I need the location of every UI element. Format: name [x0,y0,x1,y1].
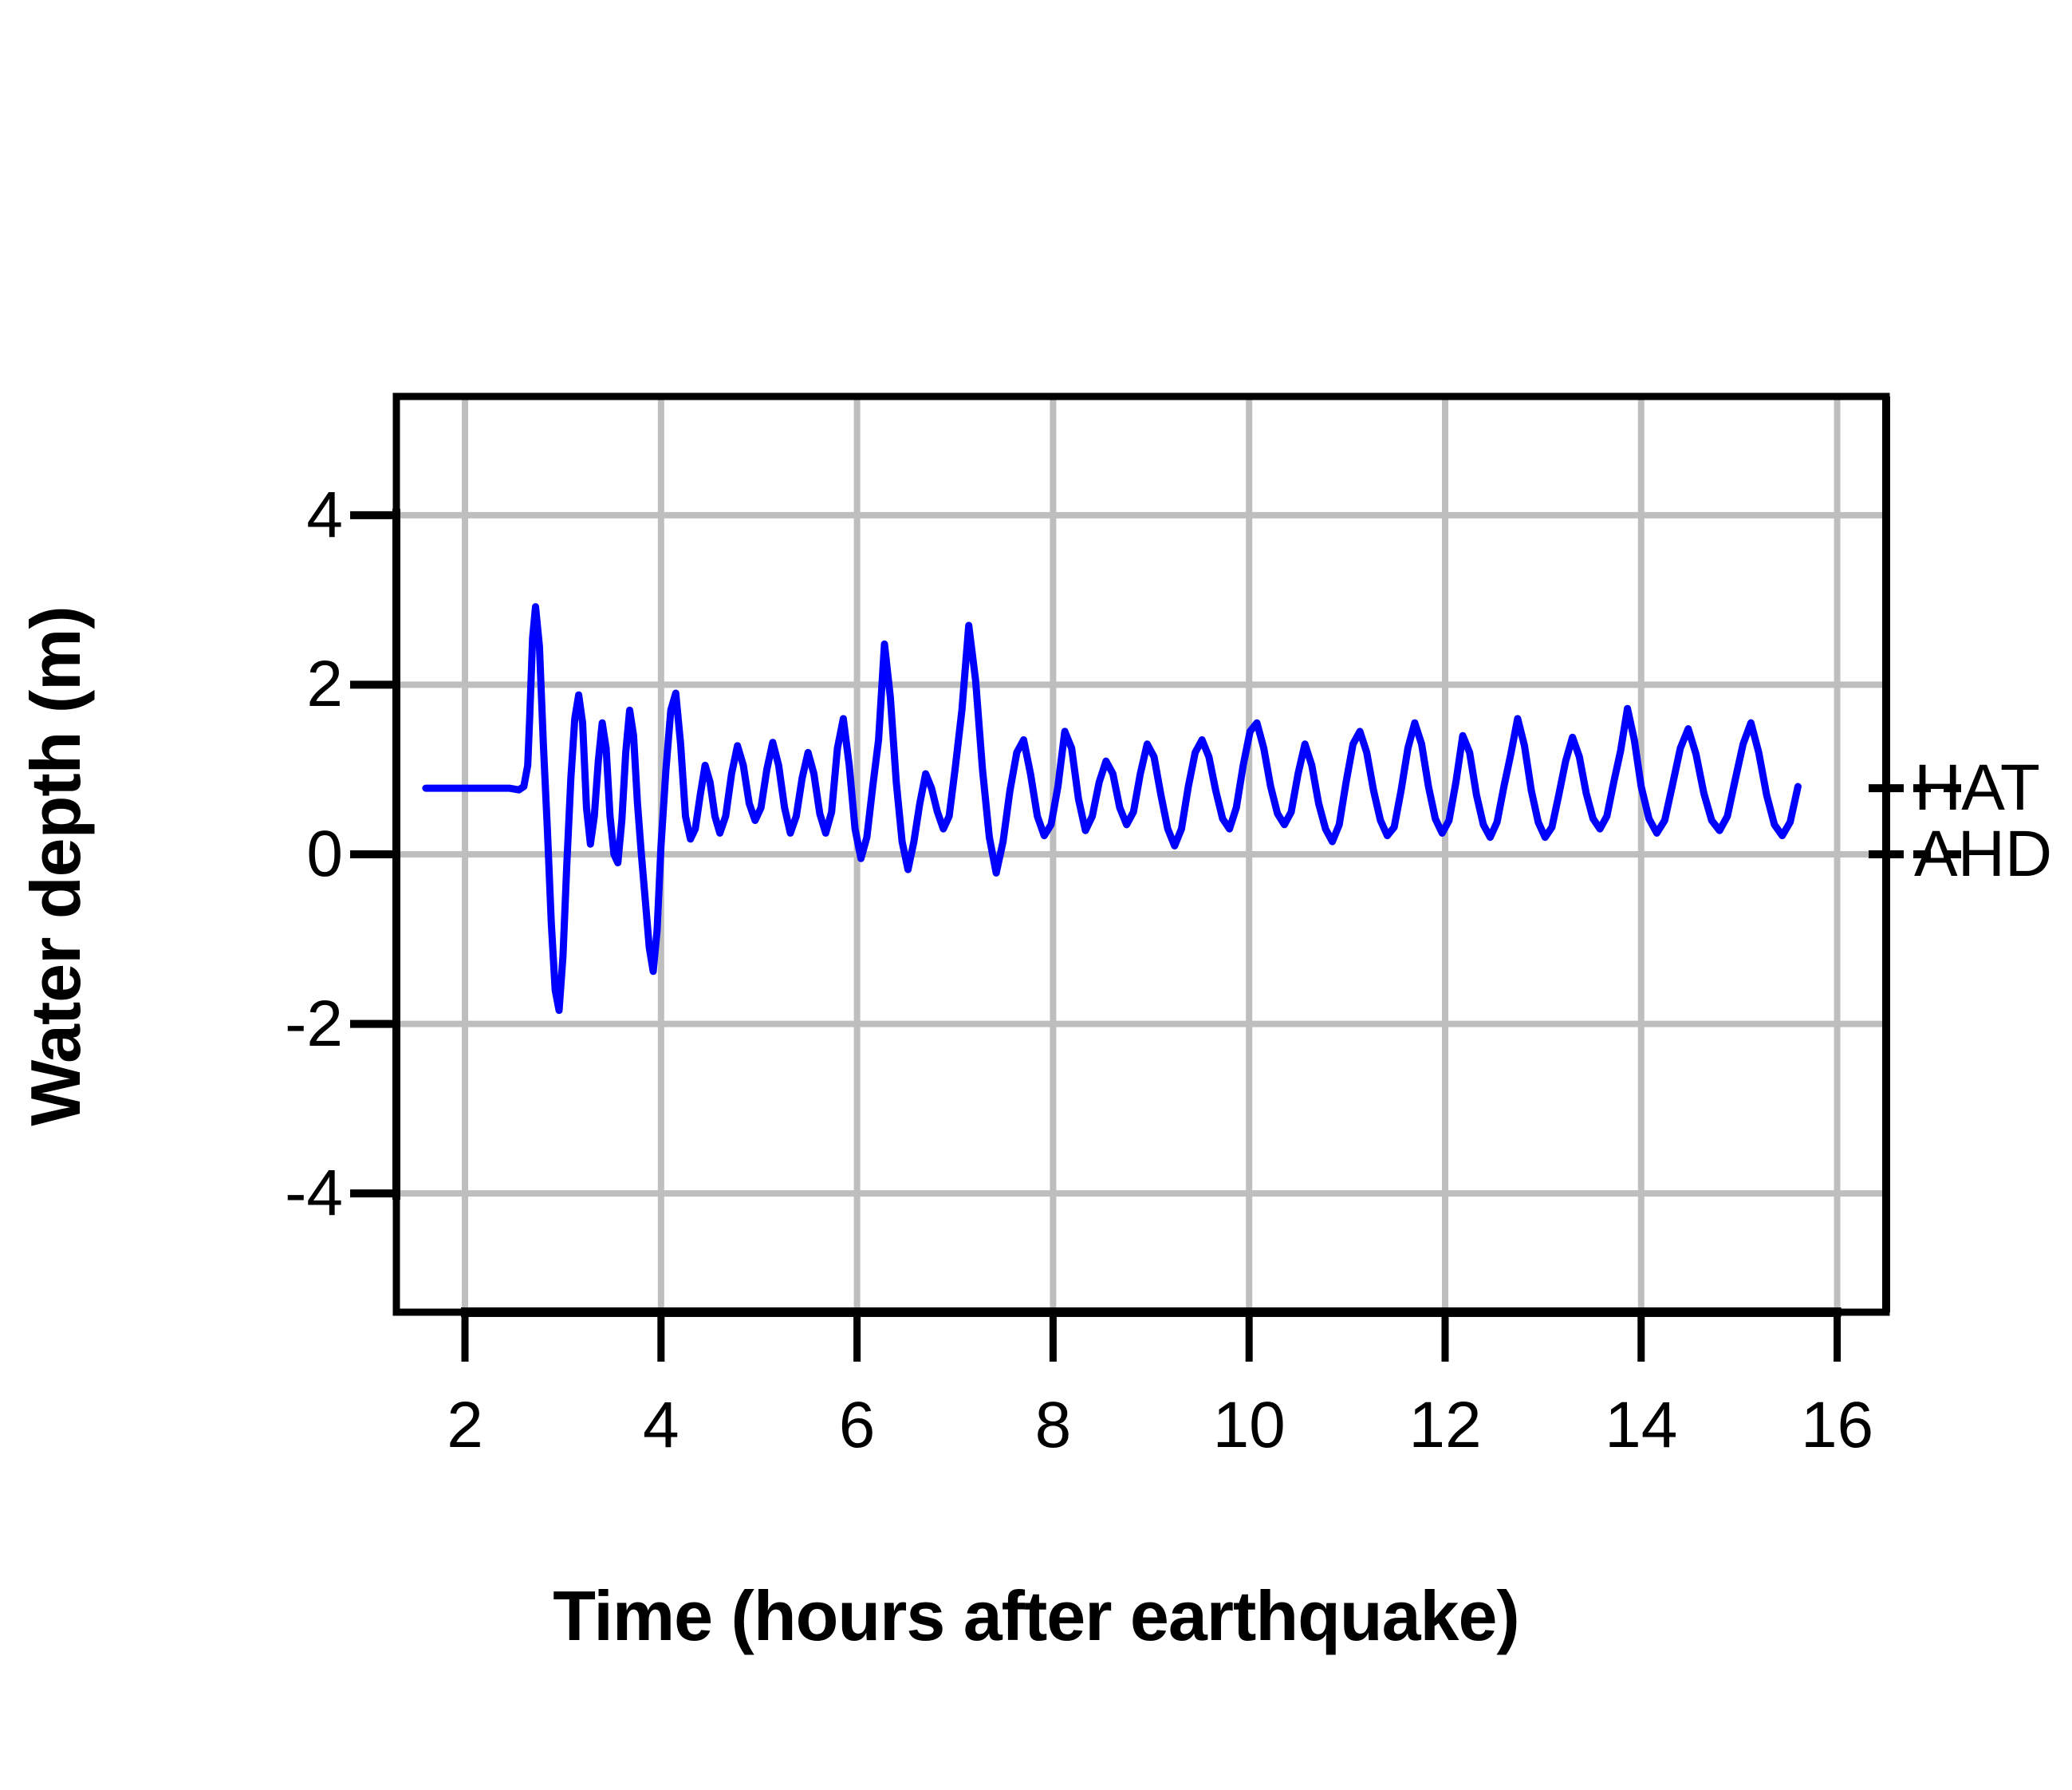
reference-label-ahd: AHD [1914,817,2052,892]
axis-ticks [350,396,1886,1362]
x-tick-label: 16 [1801,1388,1873,1463]
y-tick-label: 2 [183,647,343,722]
x-tick-label: 14 [1605,1388,1677,1463]
x-axis-title: Time (hours after earthquake) [0,1575,2072,1657]
reference-label-hat: HAT [1914,751,2040,826]
chart-figure: 420-2-4 246810121416 HATAHD Water depth … [0,0,2072,1790]
x-tick-label: 4 [643,1388,680,1463]
x-tick-label: 10 [1213,1388,1286,1463]
waveform-plot [0,0,2072,1790]
y-tick-label: -2 [183,987,343,1062]
y-tick-label: 4 [183,478,343,553]
data-line-water-depth [426,607,1798,1011]
y-axis-title: Water depth (m) [15,547,97,1185]
y-tick-label: -4 [183,1156,343,1231]
x-tick-label: 8 [1035,1388,1072,1463]
data-series-group [426,607,1798,1011]
x-tick-label: 2 [447,1388,483,1463]
x-tick-label: 6 [839,1388,876,1463]
y-tick-label: 0 [183,817,343,892]
x-tick-label: 12 [1408,1388,1481,1463]
